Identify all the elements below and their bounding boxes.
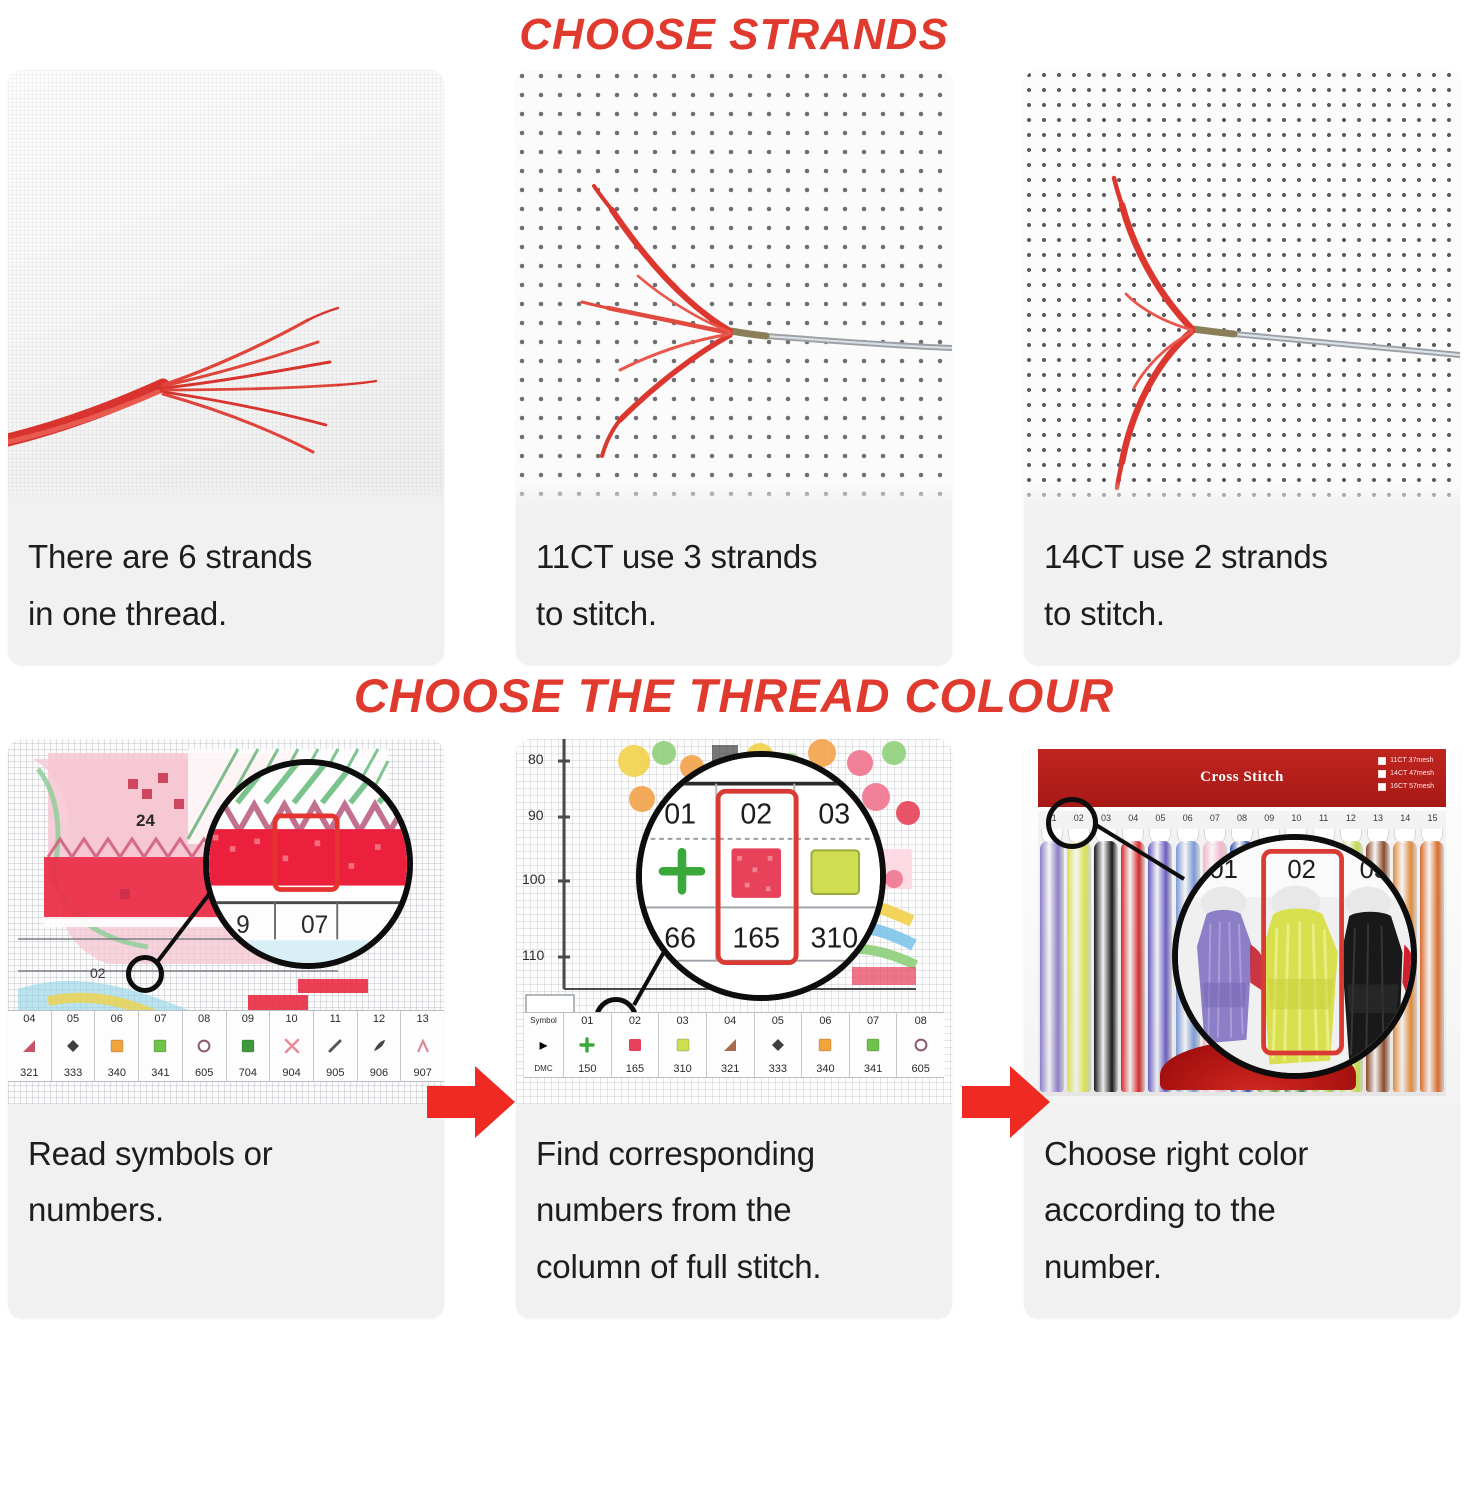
legend-symbol-icon xyxy=(240,1037,256,1055)
magnifier-lens-symbols: 9 07 xyxy=(203,759,413,969)
legend-cell[interactable]: 03310 xyxy=(659,1013,707,1077)
legend-cell[interactable]: 04321 xyxy=(8,1011,52,1081)
legend-column-number: 12 xyxy=(373,1013,385,1025)
legend-cell[interactable]: 10904 xyxy=(270,1011,314,1081)
legend-symbol-icon xyxy=(21,1037,37,1055)
legend-symbol-icon xyxy=(152,1037,168,1055)
magnifier-lens-numbers: 01 02 03 66 165 310 xyxy=(636,751,886,1001)
magnifier-focus-circle xyxy=(126,955,164,993)
next-step-arrow-1 xyxy=(425,1060,517,1144)
legend-symbol-icon xyxy=(65,1037,81,1055)
colour-cards-row: 24 02 xyxy=(0,739,1468,1318)
legend-thread-code: 340 xyxy=(816,1063,834,1075)
caption-line-2: numbers from the xyxy=(536,1182,934,1239)
caption-line-2: to stitch. xyxy=(536,586,934,643)
caption-line-2: to stitch. xyxy=(1044,586,1442,643)
thread-six-strands-illustration xyxy=(8,70,444,507)
photo-fade xyxy=(8,481,444,507)
legend-column-number: 06 xyxy=(819,1015,831,1027)
arrow-right-icon xyxy=(425,1060,517,1144)
legend-symbol-icon xyxy=(109,1037,125,1055)
caption-line-1: 11CT use 3 strands xyxy=(536,529,934,586)
legend-row-label-symbol: Symbol xyxy=(530,1015,557,1027)
legend-thread-code: 905 xyxy=(326,1067,344,1079)
legend-thread-code: 341 xyxy=(151,1067,169,1079)
page-title-choose-thread-colour: CHOOSE THE THREAD COLOUR xyxy=(0,665,1468,727)
mag-code-310: 310 xyxy=(810,922,858,954)
legend-symbol-icon xyxy=(627,1036,643,1054)
legend-row-label-code: DMC xyxy=(534,1063,552,1075)
legend-cell[interactable]: 12906 xyxy=(358,1011,402,1081)
legend-cell[interactable]: 04321 xyxy=(707,1013,755,1077)
caption-aida-11ct: 11CT use 3 strands to stitch. xyxy=(516,507,952,665)
caption-line-1: Find corresponding xyxy=(536,1126,934,1183)
legend-column-number: 07 xyxy=(867,1015,879,1027)
symbol-legend-middle: Symbol▸DMC011500216503310043210533306340… xyxy=(524,1012,944,1078)
magnifier-cell-number-left: 9 xyxy=(236,911,250,938)
legend-thread-code: 906 xyxy=(370,1067,388,1079)
legend-thread-code: 704 xyxy=(239,1067,257,1079)
legend-column-number: 04 xyxy=(23,1013,35,1025)
legend-thread-code: 605 xyxy=(195,1067,213,1079)
photo-pattern-chart-with-axis: 80 90 100 110 xyxy=(516,739,952,1104)
photo-fade xyxy=(1024,481,1460,507)
page-title-choose-strands: CHOOSE STRANDS xyxy=(0,0,1468,64)
legend-symbol-icon xyxy=(196,1037,212,1055)
magnifier-content: 9 07 xyxy=(209,765,407,963)
legend-symbol-icon xyxy=(913,1036,929,1054)
legend-column-number: 02 xyxy=(629,1015,641,1027)
photo-11ct-three-strands xyxy=(516,70,952,507)
card-aida-11ct: 11CT use 3 strands to stitch. xyxy=(516,70,952,665)
symbol-legend-left: 0432105333063400734108605097041090411905… xyxy=(8,1010,444,1082)
legend-row-labels: Symbol▸DMC xyxy=(524,1013,564,1077)
legend-symbol-icon xyxy=(770,1036,786,1054)
mag-col-03: 03 xyxy=(818,798,850,830)
infographic-page: CHOOSE STRANDS xyxy=(0,0,1468,1500)
legend-symbol-icon xyxy=(579,1036,595,1054)
card-choose-colour: Cross Stitch 11CT 37mesh 14CT 47mesh xyxy=(1024,739,1460,1318)
caption-line-3: number. xyxy=(1044,1239,1442,1296)
legend-symbol-icon xyxy=(284,1037,300,1055)
mag-code-66: 66 xyxy=(664,922,696,954)
legend-column-number: 05 xyxy=(67,1013,79,1025)
legend-thread-code: 333 xyxy=(64,1067,82,1079)
legend-thread-code: 340 xyxy=(108,1067,126,1079)
legend-symbol-icon xyxy=(722,1036,738,1054)
photo-six-strands xyxy=(8,70,444,507)
mag-col-01: 01 xyxy=(664,798,696,830)
magnifier-content-3: 01 02 03 xyxy=(1178,840,1411,1073)
caption-line-2: numbers. xyxy=(28,1182,426,1239)
legend-cell[interactable]: 02165 xyxy=(612,1013,660,1077)
legend-symbol-icon xyxy=(675,1036,691,1054)
caption-line-2: according to the xyxy=(1044,1182,1442,1239)
caption-find-numbers: Find corresponding numbers from the colu… xyxy=(516,1104,952,1318)
photo-thread-organizer: Cross Stitch 11CT 37mesh 14CT 47mesh xyxy=(1024,739,1460,1104)
photo-pattern-chart: 24 02 xyxy=(8,739,444,1104)
magnifier-lens-threads: 01 02 03 xyxy=(1172,834,1417,1079)
legend-cell[interactable]: 08605 xyxy=(897,1013,944,1077)
legend-cell[interactable]: 06340 xyxy=(802,1013,850,1077)
legend-symbol-icon xyxy=(371,1037,387,1055)
legend-column-number: 11 xyxy=(330,1013,341,1025)
card-aida-14ct: 14CT use 2 strands to stitch. xyxy=(1024,70,1460,665)
caption-line-3: column of full stitch. xyxy=(536,1239,934,1296)
caption-line-1: 14CT use 2 strands xyxy=(1044,529,1442,586)
legend-symbol-icon xyxy=(327,1037,343,1055)
legend-cell[interactable]: 05333 xyxy=(755,1013,803,1077)
legend-symbol-icon xyxy=(817,1036,833,1054)
chart-label-24: 24 xyxy=(136,811,155,831)
card-read-symbols: 24 02 xyxy=(8,739,444,1318)
next-step-arrow-2 xyxy=(960,1060,1052,1144)
legend-column-number: 09 xyxy=(242,1013,254,1025)
legend-cell[interactable]: 09704 xyxy=(227,1011,271,1081)
magnifier-cell-number-right: 07 xyxy=(301,911,328,938)
strand-cards-row: There are 6 strands in one thread. xyxy=(0,70,1468,665)
caption-aida-14ct: 14CT use 2 strands to stitch. xyxy=(1024,507,1460,665)
legend-thread-code: 321 xyxy=(721,1063,739,1075)
legend-thread-code: 341 xyxy=(864,1063,882,1075)
caption-line-2: in one thread. xyxy=(28,586,426,643)
legend-thread-code: 904 xyxy=(282,1067,300,1079)
legend-thread-code: 605 xyxy=(912,1063,930,1075)
mag-col-02: 02 xyxy=(740,798,772,830)
legend-cell[interactable]: 07341 xyxy=(850,1013,898,1077)
legend-symbol-icon xyxy=(865,1036,881,1054)
legend-thread-code: 333 xyxy=(769,1063,787,1075)
thread-two-strands-needle-illustration xyxy=(1024,70,1460,507)
caption-plain-cloth: There are 6 strands in one thread. xyxy=(8,507,444,665)
legend-cell[interactable]: 08605 xyxy=(183,1011,227,1081)
legend-thread-code: 150 xyxy=(578,1063,596,1075)
legend-thread-code: 165 xyxy=(626,1063,644,1075)
legend-thread-code: 321 xyxy=(20,1067,38,1079)
caption-choose-colour: Choose right color according to the numb… xyxy=(1024,1104,1460,1318)
legend-cell[interactable]: 01150 xyxy=(564,1013,612,1077)
card-plain-cloth: There are 6 strands in one thread. xyxy=(8,70,444,665)
mag-thread-col-02: 02 xyxy=(1287,856,1316,884)
legend-arrow-icon: ▸ xyxy=(539,1038,547,1052)
legend-column-number: 04 xyxy=(724,1015,736,1027)
legend-column-number: 08 xyxy=(915,1015,927,1027)
caption-line-1: Read symbols or xyxy=(28,1126,426,1183)
card-find-numbers: 80 90 100 110 xyxy=(516,739,952,1318)
legend-column-number: 13 xyxy=(417,1013,429,1025)
photo-fade xyxy=(516,481,952,507)
legend-column-number: 01 xyxy=(581,1015,593,1027)
legend-column-number: 05 xyxy=(772,1015,784,1027)
legend-column-number: 03 xyxy=(676,1015,688,1027)
chart-label-02: 02 xyxy=(90,965,106,981)
legend-cell[interactable]: 11905 xyxy=(314,1011,358,1081)
caption-line-1: Choose right color xyxy=(1044,1126,1442,1183)
arrow-right-icon xyxy=(960,1060,1052,1144)
thread-three-strands-needle-illustration xyxy=(516,70,952,507)
caption-read-symbols: Read symbols or numbers. xyxy=(8,1104,444,1262)
legend-thread-code: 310 xyxy=(673,1063,691,1075)
photo-14ct-two-strands xyxy=(1024,70,1460,507)
legend-column-number: 10 xyxy=(285,1013,297,1025)
legend-cell[interactable]: 06340 xyxy=(95,1011,139,1081)
magnifier-content-2: 01 02 03 66 165 310 xyxy=(642,757,880,995)
legend-cell[interactable]: 07341 xyxy=(139,1011,183,1081)
legend-symbol-icon xyxy=(415,1037,431,1055)
caption-line-1: There are 6 strands xyxy=(28,529,426,586)
legend-column-number: 08 xyxy=(198,1013,210,1025)
legend-column-number: 07 xyxy=(154,1013,166,1025)
legend-cell[interactable]: 05333 xyxy=(52,1011,96,1081)
mag-code-165: 165 xyxy=(732,922,780,954)
legend-column-number: 06 xyxy=(111,1013,123,1025)
